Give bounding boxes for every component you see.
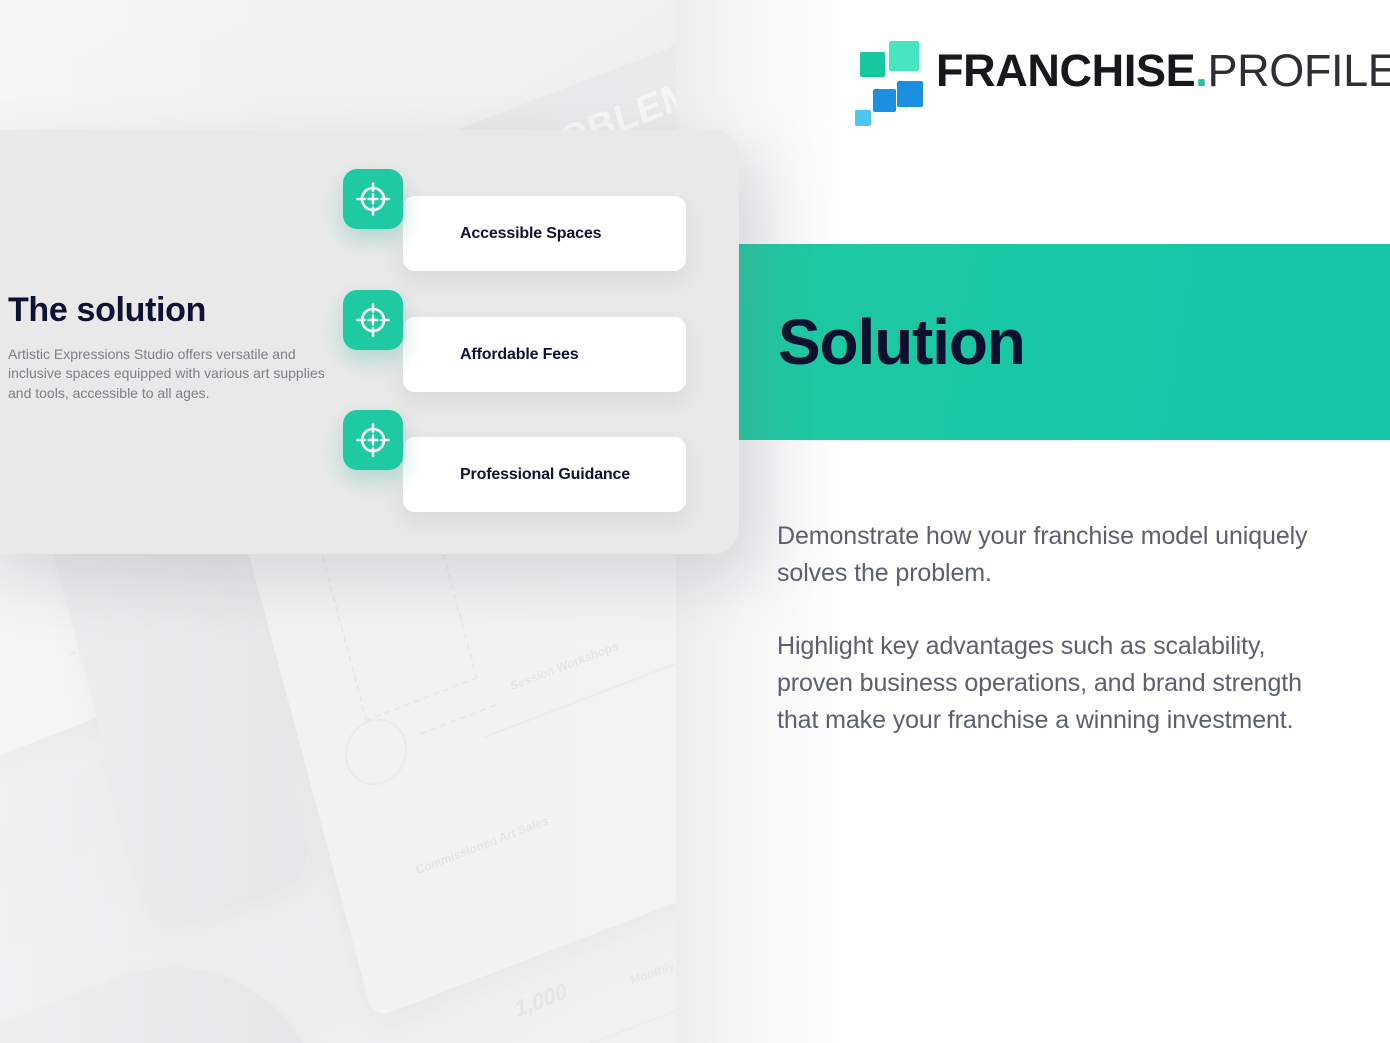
section-title: Solution [778, 310, 1025, 374]
feature-label: Accessible Spaces [460, 225, 601, 243]
description-paragraph-2: Highlight key advantages such as scalabi… [777, 628, 1329, 739]
feature-item-affordable-fees[interactable]: Affordable Fees [403, 317, 686, 392]
feature-label: Professional Guidance [460, 466, 630, 484]
crosshair-target-icon [343, 290, 403, 350]
franchise-profiles-logo-icon [852, 40, 910, 100]
crosshair-target-icon [343, 169, 403, 229]
card-heading: The solution [8, 291, 206, 330]
section-title-banner: Solution [738, 244, 1390, 440]
logo-square-cyan [855, 110, 871, 126]
backdrop-slide-traction: TRACTION Significant milestones demonstr… [0, 917, 365, 1043]
feature-item-professional-guidance[interactable]: Professional Guidance [403, 437, 686, 512]
slide-canvas: Pitch deck THE PROBLEM Many individuals … [0, 0, 1390, 1043]
backdrop-stat-label: Monthly Visitors [629, 941, 676, 988]
feature-item-accessible-spaces[interactable]: Accessible Spaces [403, 196, 686, 271]
brand-name-light: PROFILES [1207, 45, 1390, 96]
logo-square-blue-small [873, 89, 896, 112]
crosshair-target-icon [343, 410, 403, 470]
logo-square-teal-light [889, 41, 919, 71]
description-paragraph-1: Demonstrate how your franchise model uni… [777, 518, 1329, 592]
brand-wordmark: FRANCHISE.PROFILES [936, 48, 1390, 93]
brand-name-bold: FRANCHISE [936, 45, 1195, 96]
solution-preview-card: The solution Artistic Expressions Studio… [0, 130, 739, 554]
feature-label: Affordable Fees [460, 346, 579, 364]
card-subtext: Artistic Expressions Studio offers versa… [8, 345, 328, 403]
right-content-pane: FRANCHISE.PROFILES Solution Demonstrate … [676, 0, 1390, 1043]
section-description: Demonstrate how your franchise model uni… [777, 518, 1329, 739]
backdrop-stat-value: 1,000 [512, 978, 570, 1023]
brand-name-dot: . [1195, 45, 1207, 96]
logo-square-blue [897, 81, 923, 107]
logo-square-teal [860, 52, 885, 77]
brand-logo[interactable]: FRANCHISE.PROFILES [852, 40, 1390, 100]
